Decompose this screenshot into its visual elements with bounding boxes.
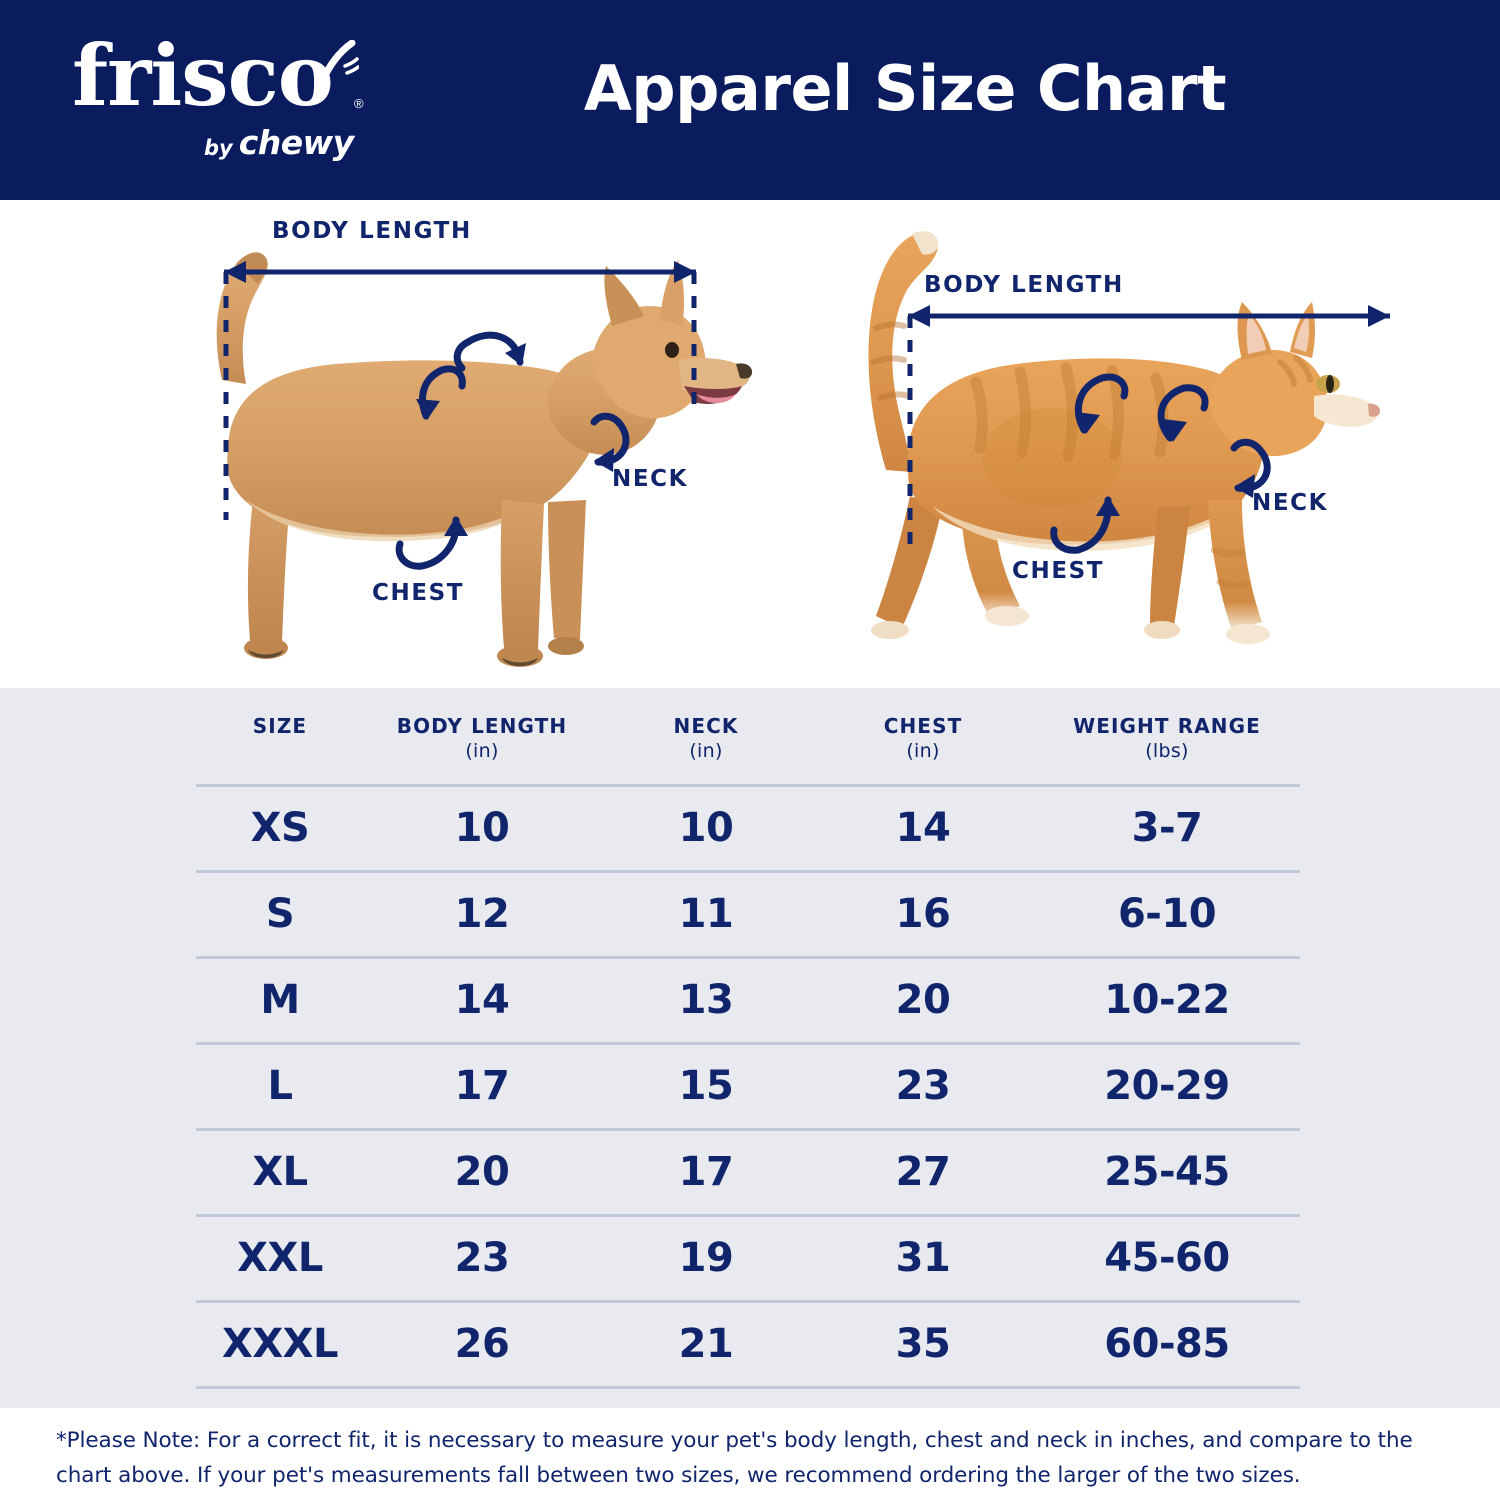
brand-subline-by: by — [204, 138, 233, 159]
cell-neck: 10 — [600, 785, 812, 871]
page-title: Apparel Size Chart — [0, 52, 1500, 125]
dog-body-length-label: BODY LENGTH — [272, 218, 472, 244]
cell-chest: 14 — [812, 785, 1034, 871]
dog-chest-label: CHEST — [372, 580, 464, 606]
cell-weight-range: 25-45 — [1034, 1129, 1300, 1215]
column-header-chest: CHEST (in) — [812, 688, 1034, 785]
column-header-weight-range-unit: (lbs) — [1034, 740, 1300, 763]
cell-chest: 23 — [812, 1043, 1034, 1129]
cell-chest: 16 — [812, 871, 1034, 957]
cat-illustration: BODY LENGTH NECK CHEST — [790, 200, 1410, 688]
cell-neck: 17 — [600, 1129, 812, 1215]
table-row: XL 20 17 27 25-45 — [196, 1129, 1300, 1215]
cell-neck: 13 — [600, 957, 812, 1043]
cell-weight-range: 3-7 — [1034, 785, 1300, 871]
cell-body-length: 12 — [364, 871, 600, 957]
cell-size: XL — [196, 1129, 364, 1215]
column-header-size: SIZE — [196, 688, 364, 785]
column-header-chest-unit: (in) — [812, 740, 1034, 763]
cell-chest: 27 — [812, 1129, 1034, 1215]
cell-size: S — [196, 871, 364, 957]
column-header-weight-range-label: WEIGHT RANGE — [1073, 714, 1261, 738]
column-header-body-length-label: BODY LENGTH — [397, 714, 568, 738]
illustration-band: BODY LENGTH NECK CHEST — [0, 200, 1500, 688]
column-header-body-length: BODY LENGTH (in) — [364, 688, 600, 785]
cell-body-length: 26 — [364, 1301, 600, 1387]
cell-weight-range: 60-85 — [1034, 1301, 1300, 1387]
column-header-body-length-unit: (in) — [364, 740, 600, 763]
cell-chest: 35 — [812, 1301, 1034, 1387]
table-row: L 17 15 23 20-29 — [196, 1043, 1300, 1129]
brand-subline-chewy: chewy — [239, 126, 354, 159]
column-header-size-label: SIZE — [253, 714, 307, 738]
column-header-weight-range: WEIGHT RANGE (lbs) — [1034, 688, 1300, 785]
cell-body-length: 17 — [364, 1043, 600, 1129]
header-band: frisco ® by chewy Apparel Size Chart — [0, 0, 1500, 200]
cat-neck-label: NECK — [1252, 490, 1328, 516]
cat-body-length-label: BODY LENGTH — [924, 272, 1124, 298]
table-row: M 14 13 20 10-22 — [196, 957, 1300, 1043]
column-header-chest-label: CHEST — [884, 714, 963, 738]
cell-weight-range: 10-22 — [1034, 957, 1300, 1043]
apparel-size-chart-page: frisco ® by chewy Apparel Size Chart — [0, 0, 1500, 1500]
cat-chest-label: CHEST — [1012, 558, 1104, 584]
cell-body-length: 23 — [364, 1215, 600, 1301]
cell-size: XS — [196, 785, 364, 871]
cell-size: M — [196, 957, 364, 1043]
cell-body-length: 20 — [364, 1129, 600, 1215]
apparel-size-table: SIZE BODY LENGTH (in) NECK (in) CHEST (i… — [196, 688, 1300, 1389]
cell-size: XXL — [196, 1215, 364, 1301]
cell-chest: 31 — [812, 1215, 1034, 1301]
column-header-neck: NECK (in) — [600, 688, 812, 785]
cell-neck: 11 — [600, 871, 812, 957]
cell-neck: 21 — [600, 1301, 812, 1387]
dog-neck-label: NECK — [612, 466, 688, 492]
cell-neck: 15 — [600, 1043, 812, 1129]
cell-weight-range: 20-29 — [1034, 1043, 1300, 1129]
brand-subline: by chewy — [204, 126, 354, 159]
table-row: XS 10 10 14 3-7 — [196, 785, 1300, 871]
size-table-band: SIZE BODY LENGTH (in) NECK (in) CHEST (i… — [0, 688, 1500, 1408]
cell-size: L — [196, 1043, 364, 1129]
table-header-row: SIZE BODY LENGTH (in) NECK (in) CHEST (i… — [196, 688, 1300, 785]
dog-illustration: BODY LENGTH NECK CHEST — [150, 200, 770, 688]
table-row: XXL 23 19 31 45-60 — [196, 1215, 1300, 1301]
cell-weight-range: 6-10 — [1034, 871, 1300, 957]
cell-body-length: 14 — [364, 957, 600, 1043]
table-row: XXXL 26 21 35 60-85 — [196, 1301, 1300, 1387]
column-header-neck-label: NECK — [674, 714, 739, 738]
cell-size: XXXL — [196, 1301, 364, 1387]
table-row: S 12 11 16 6-10 — [196, 871, 1300, 957]
column-header-neck-unit: (in) — [600, 740, 812, 763]
footnote-text: *Please Note: For a correct fit, it is n… — [56, 1424, 1448, 1494]
cell-body-length: 10 — [364, 785, 600, 871]
cell-chest: 20 — [812, 957, 1034, 1043]
cell-neck: 19 — [600, 1215, 812, 1301]
cell-weight-range: 45-60 — [1034, 1215, 1300, 1301]
